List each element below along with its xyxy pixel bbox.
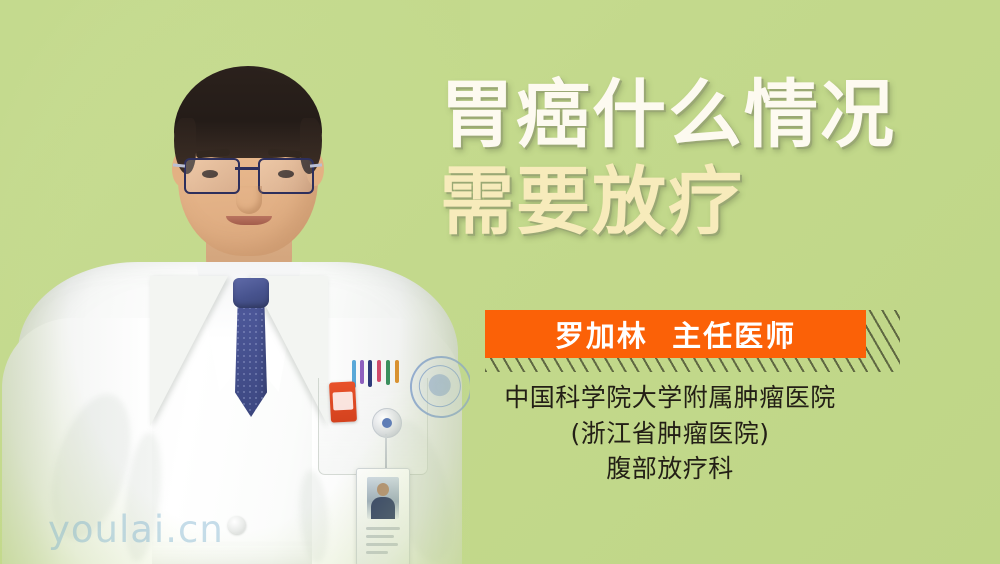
name-badge-bar: 罗加林 主任医师: [485, 310, 866, 358]
eyeglass-bridge: [235, 167, 259, 170]
doctor-name-title-label: 罗加林 主任医师: [555, 313, 796, 355]
eyeglass-lens-left: [184, 158, 240, 194]
affiliation-block: 中国科学院大学附属肿瘤医院 (浙江省肿瘤医院) 腹部放疗科: [440, 380, 900, 487]
coat-lapel-left: [150, 276, 228, 426]
id-badge-photo: [367, 477, 399, 519]
headline-line-1: 胃癌什么情况: [440, 78, 980, 153]
pen-set: [350, 360, 404, 388]
affiliation-line-1: 中国科学院大学附属肿瘤医院: [440, 380, 900, 416]
nose: [236, 186, 262, 214]
doctor-name-badge: 罗加林 主任医师: [485, 310, 900, 372]
badge-reel-cord: [385, 434, 387, 470]
doctor-portrait: [0, 0, 470, 564]
pen: [377, 360, 381, 382]
pen: [395, 360, 399, 383]
pen: [360, 360, 364, 384]
id-badge-text-line: [366, 527, 400, 530]
badge-reel-icon: [372, 408, 402, 438]
id-badge-card: [356, 468, 410, 564]
affiliation-line-3: 腹部放疗科: [440, 451, 900, 487]
id-badge-text-line: [366, 535, 394, 538]
pen: [386, 360, 390, 385]
affiliation-line-2: (浙江省肿瘤医院): [440, 416, 900, 452]
page-title: 胃癌什么情况 需要放疗: [440, 78, 980, 241]
coat-button: [228, 516, 246, 534]
video-thumbnail-poster: youlai.cn 胃癌什么情况 需要放疗 罗加林 主任医师 中国科学院大学附属…: [0, 0, 1000, 564]
necktie-knot: [233, 278, 269, 308]
id-badge-text-line: [366, 551, 388, 554]
site-watermark: youlai.cn: [48, 508, 224, 551]
headline-line-2: 需要放疗: [440, 165, 980, 240]
red-name-tag: [329, 381, 357, 422]
id-badge-text-line: [366, 543, 398, 546]
pen: [368, 360, 372, 387]
eyeglass-lens-right: [258, 158, 314, 194]
